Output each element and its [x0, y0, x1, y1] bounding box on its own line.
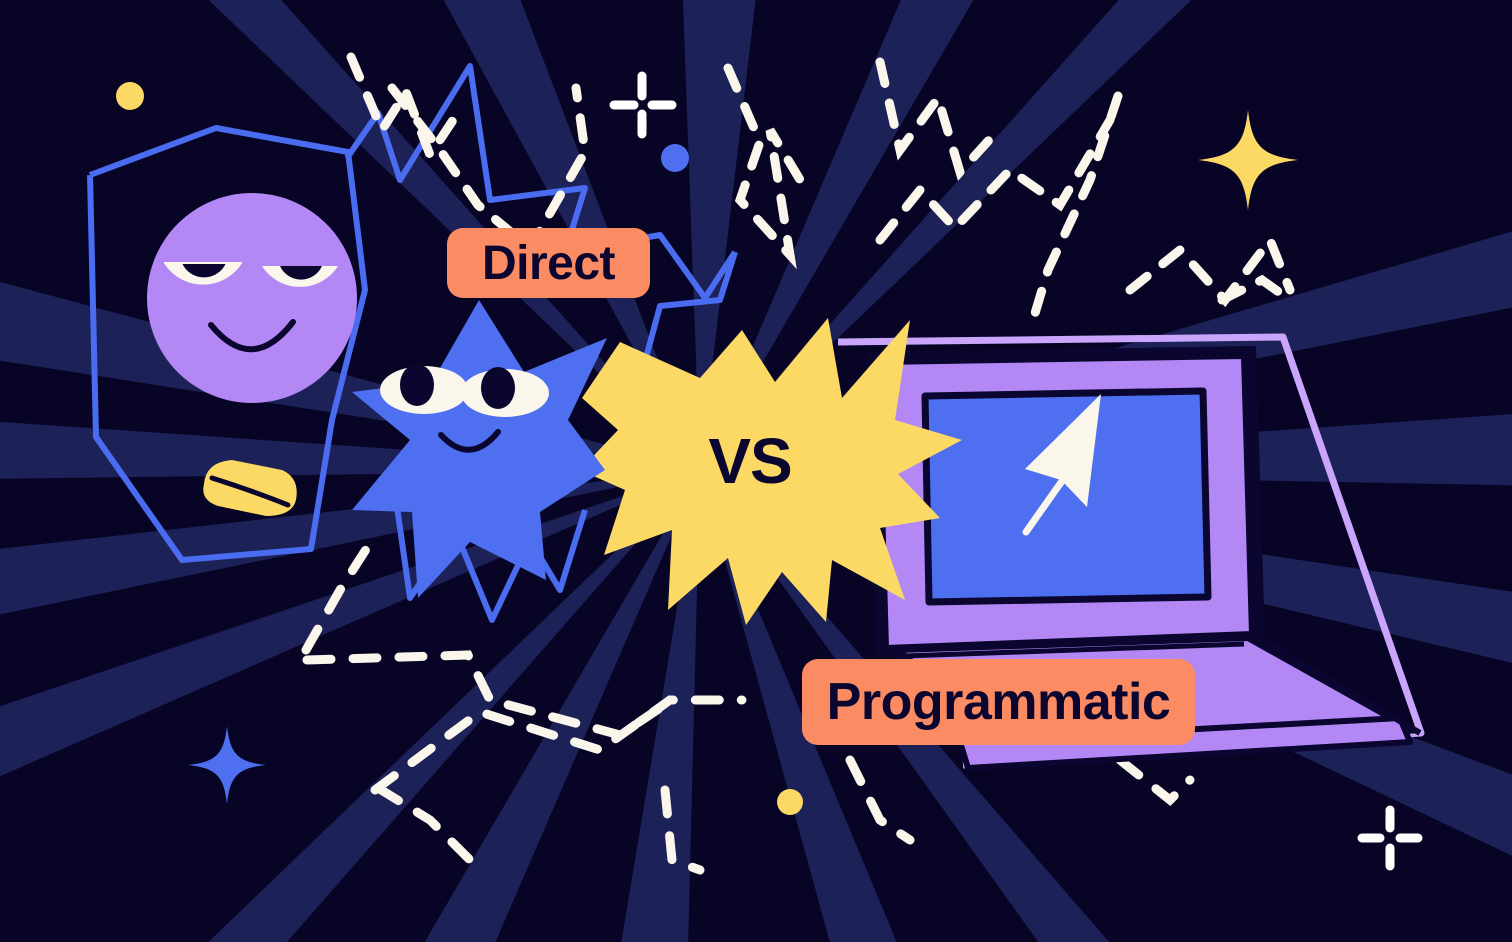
programmatic-label-text: Programmatic — [827, 672, 1171, 732]
direct-label-badge[interactable]: Direct — [447, 228, 650, 298]
blue-star-character — [0, 0, 1512, 942]
illustration-canvas: Direct Programmatic VS — [0, 0, 1512, 942]
direct-label-text: Direct — [482, 236, 615, 291]
programmatic-label-badge[interactable]: Programmatic — [802, 659, 1195, 745]
